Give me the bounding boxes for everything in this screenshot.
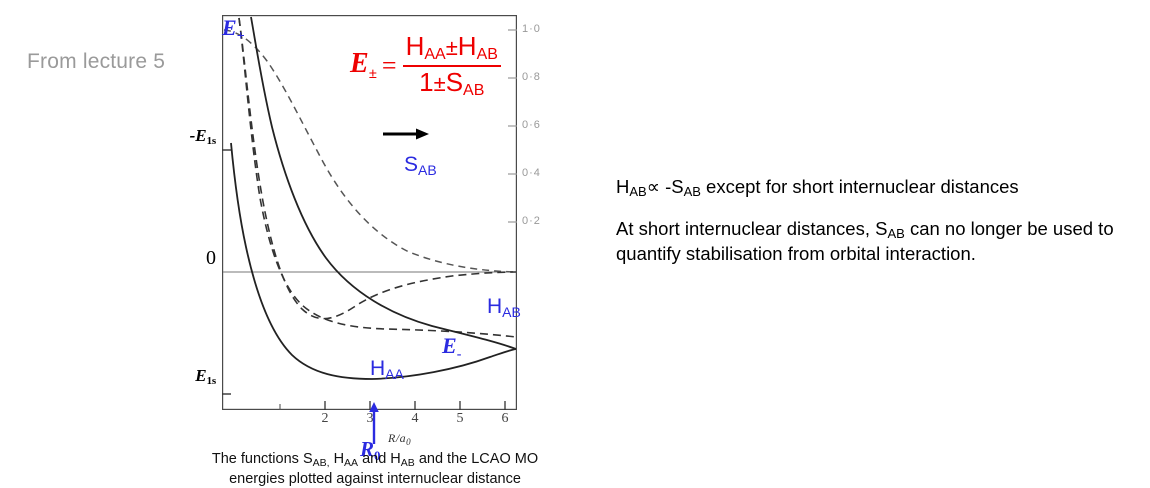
left-axis-tick-label-e1s: E1s bbox=[162, 366, 216, 387]
curve-label-e-minus: E- bbox=[442, 333, 461, 363]
plot-area: 1·0 0·8 0·6 0·4 0·2 2 3 4 5 6 R/a0 R0 E±… bbox=[222, 15, 517, 410]
x-axis-title: R/a0 bbox=[388, 431, 411, 447]
right-axis-tick-label-0-6: 0·6 bbox=[522, 119, 541, 131]
x-axis-tick-label-2: 2 bbox=[316, 411, 334, 427]
curve-label-s-ab: SAB bbox=[404, 153, 437, 178]
slide-body-text: HAB∝ -SAB except for short internuclear … bbox=[616, 175, 1136, 266]
body-paragraph-2: At short internuclear distances, SAB can… bbox=[616, 217, 1136, 266]
x-axis-tick-label-5: 5 bbox=[451, 411, 469, 427]
equation-equals-sign: = bbox=[382, 51, 397, 81]
x-axis-tick-label-4: 4 bbox=[406, 411, 424, 427]
body-paragraph-1: HAB∝ -SAB except for short internuclear … bbox=[616, 175, 1136, 201]
figure-caption-line-2: energies plotted against internuclear di… bbox=[170, 470, 580, 488]
right-axis-tick-label-0-8: 0·8 bbox=[522, 71, 541, 83]
energy-equation: E± = HAA±HAB 1±SAB bbox=[350, 33, 501, 100]
equation-denominator: 1±SAB bbox=[416, 67, 487, 100]
right-axis-tick-label-0-2: 0·2 bbox=[522, 215, 541, 227]
x-axis-tick-label-6: 6 bbox=[496, 411, 514, 427]
figure-caption: The functions SAB, HAA and HAB and the L… bbox=[170, 450, 580, 488]
curve-label-e-plus: E+ bbox=[222, 15, 245, 45]
figure-caption-line-1: The functions SAB, HAA and HAB and the L… bbox=[170, 450, 580, 470]
left-axis-tick-label-zero: 0 bbox=[162, 247, 216, 270]
curve-label-h-ab: HAB bbox=[487, 295, 521, 320]
equation-numerator: HAA±HAB bbox=[403, 33, 501, 65]
figure-container: -E1s 0 E1s bbox=[170, 0, 580, 487]
left-axis-tick-label-neg-e1s: -E1s bbox=[162, 126, 216, 147]
lecture-reference-note: From lecture 5 bbox=[27, 50, 165, 74]
curve-label-h-aa: HAA bbox=[370, 357, 404, 382]
equation-lhs: E± bbox=[350, 50, 377, 82]
right-axis-tick-label-1-0: 1·0 bbox=[522, 23, 541, 35]
right-axis-tick-label-0-4: 0·4 bbox=[522, 167, 541, 179]
right-arrow-icon bbox=[383, 128, 429, 140]
equation-fraction: HAA±HAB 1±SAB bbox=[403, 33, 501, 100]
